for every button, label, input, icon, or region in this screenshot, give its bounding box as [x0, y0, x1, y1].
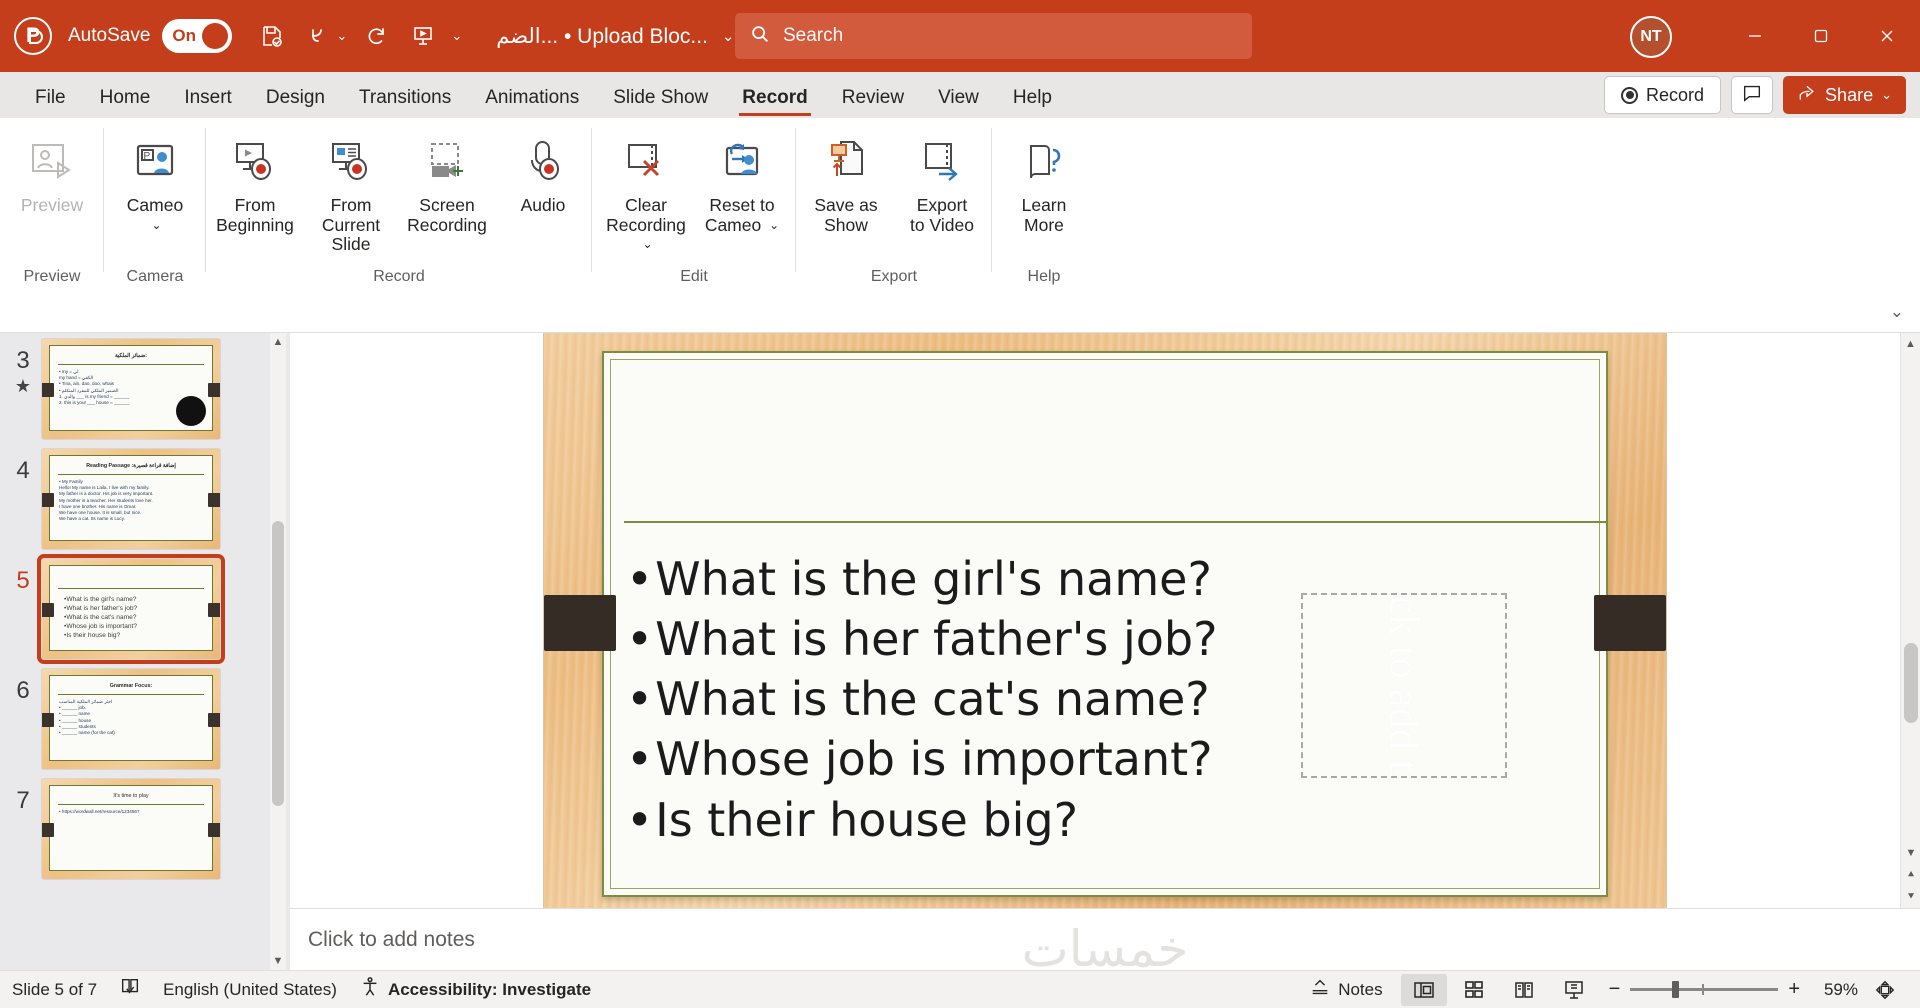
canvas-scrollbar-thumb[interactable]: [1904, 643, 1918, 723]
status-bar: Slide 5 of 7 English (United States) Acc…: [0, 970, 1920, 1008]
cameo-label: Cameo: [127, 195, 183, 215]
slide-canvas-wrapper: What is the girl's name? What is her fat…: [290, 333, 1920, 970]
thumb-title-7: It's time to play: [50, 786, 212, 799]
zoom-track[interactable]: [1630, 988, 1778, 991]
clear-recording-button[interactable]: Clear Recording ⌄: [598, 126, 694, 255]
slide-show-view-icon[interactable]: [1551, 974, 1597, 1006]
thumb-lines-6: اختر ضمائر الملكية المناسب • ______ job.…: [50, 699, 212, 736]
thumbnail-slide-5[interactable]: 5 •What is the girl's name? •What is her…: [0, 559, 290, 659]
audio-label: Audio: [521, 195, 566, 215]
ribbon-tabs: File Home Insert Design Transitions Anim…: [0, 72, 1920, 118]
save-as-show-label-2: Show: [824, 215, 868, 235]
document-title: الضم... • Upload Bloc...: [496, 24, 708, 49]
cameo-caret-icon[interactable]: ⌄: [151, 218, 161, 232]
reset-to-cameo-icon: [715, 132, 769, 194]
tab-review[interactable]: Review: [825, 78, 921, 118]
slide-title-rule: [624, 521, 1606, 523]
record-button[interactable]: Record: [1604, 76, 1721, 114]
learn-more-label-1: Learn: [1022, 195, 1067, 215]
thumbnail-number-3: 3 ★: [4, 339, 42, 395]
tab-insert[interactable]: Insert: [167, 78, 249, 118]
save-as-show-button[interactable]: Save as Show: [798, 126, 894, 235]
cameo-icon: P: [129, 132, 181, 194]
undo-dropdown-caret-icon[interactable]: ⌄: [336, 28, 347, 44]
thumbnail-preview-7: It's time to play • https://wordwall.net…: [42, 779, 220, 879]
from-current-slide-label-1: From: [331, 195, 372, 215]
save-as-show-label-1: Save as: [814, 195, 877, 215]
audio-icon: [516, 132, 570, 194]
reading-view-icon[interactable]: [1501, 974, 1547, 1006]
avatar[interactable]: NT: [1630, 16, 1672, 58]
tab-home[interactable]: Home: [83, 78, 168, 118]
share-icon: [1797, 83, 1817, 108]
slide-bullet-4: Whose job is important?: [626, 729, 1218, 789]
close-button[interactable]: [1854, 0, 1920, 72]
title-bar: P AutoSave On ⌄ ⌄ الضم... • Upload Bloc.…: [0, 0, 1920, 72]
record-button-label: Record: [1646, 85, 1704, 106]
tab-help[interactable]: Help: [996, 78, 1069, 118]
thumbnail-number-6: 6: [4, 669, 42, 705]
tab-animations[interactable]: Animations: [468, 78, 596, 118]
thumbnail-slide-6[interactable]: 6 Grammar Focus: اختر ضمائر الملكية المن…: [0, 669, 290, 769]
thumb-bullets-5: •What is the girl's name? •What is her f…: [50, 593, 212, 640]
redo-icon[interactable]: [355, 14, 399, 58]
title-placeholder[interactable]: Click to add title: [1301, 593, 1507, 778]
comments-button[interactable]: [1731, 76, 1773, 114]
powerpoint-logo-icon: P: [14, 17, 52, 55]
tab-transitions[interactable]: Transitions: [342, 78, 468, 118]
export-to-video-button[interactable]: Export to Video: [894, 126, 990, 235]
slide-clip-left: [544, 595, 616, 651]
group-name-preview: Preview: [24, 268, 81, 286]
ribbon: Preview Preview P Cameo ⌄: [0, 118, 1920, 333]
learn-more-button[interactable]: Learn More: [996, 126, 1092, 235]
status-bar-right: Notes −: [1309, 974, 1908, 1006]
canvas-scroll-bottom-group: ▼ ⯅ ⯆: [1901, 842, 1920, 908]
thumbnail-scroll-down-icon[interactable]: ▼: [270, 952, 286, 970]
export-to-video-icon: [915, 132, 969, 194]
notes-toggle-button[interactable]: Notes: [1309, 976, 1382, 1003]
clear-recording-icon: [619, 132, 673, 194]
ribbon-group-export: Save as Show Export to Video Expo: [796, 118, 992, 298]
preview-icon: [26, 132, 78, 194]
from-beginning-icon: [228, 132, 282, 194]
spellcheck-button[interactable]: [119, 976, 141, 1003]
zoom-slider-handle[interactable]: [1672, 981, 1679, 998]
slide-counter[interactable]: Slide 5 of 7: [12, 980, 97, 1000]
ribbon-group-preview: Preview Preview: [0, 118, 104, 298]
preview-button[interactable]: Preview: [4, 126, 100, 216]
tab-slide-show[interactable]: Slide Show: [596, 78, 725, 118]
share-button-label: Share: [1825, 85, 1873, 106]
thumbnail-number-7: 7: [4, 779, 42, 815]
thumb-lines-4: • My Family Hello! My name is Laila. I l…: [50, 479, 212, 522]
spellcheck-icon: [119, 976, 141, 1003]
share-button[interactable]: Share ⌄: [1783, 76, 1906, 114]
autosave-label: AutoSave: [68, 25, 150, 47]
svg-text:P: P: [144, 151, 151, 162]
notes-pane[interactable]: Click to add notes خمسات: [290, 908, 1920, 970]
thumb-title-4: Reading Passage :إضافة قراءة قصيرة: [50, 456, 212, 469]
thumbnail-scroll-up-icon[interactable]: ▲: [270, 333, 286, 351]
language-indicator[interactable]: English (United States): [163, 980, 337, 1000]
search-box[interactable]: Search: [735, 13, 1252, 59]
tab-record[interactable]: Record: [725, 78, 824, 118]
from-current-slide-button[interactable]: From Current Slide: [303, 126, 399, 255]
autosave-toggle[interactable]: On: [162, 19, 232, 53]
slide-editing-area[interactable]: What is the girl's name? What is her fat…: [290, 333, 1920, 908]
thumbnail-preview-3: ضمائر الملكية: • my = لي my hand = الكفي…: [42, 339, 220, 439]
canvas-scroll-down-icon[interactable]: ▼: [1901, 842, 1920, 864]
group-name-camera: Camera: [127, 268, 184, 286]
clear-recording-label-2: Recording: [606, 215, 686, 235]
thumbnail-scrollbar-thumb[interactable]: [272, 521, 284, 806]
thumbnail-slide-7[interactable]: 7 It's time to play • https://wordwall.n…: [0, 779, 290, 879]
zoom-in-button[interactable]: +: [1788, 978, 1800, 1001]
document-title-caret-icon[interactable]: ⌄: [722, 27, 735, 45]
window-controls: [1722, 0, 1920, 72]
slide-thumbnail-pane[interactable]: 3 ★ ضمائر الملكية: • my = لي my hand = ا…: [0, 333, 290, 970]
thumb-title-6: Grammar Focus:: [50, 676, 212, 689]
previous-slide-icon[interactable]: ⯅: [1901, 864, 1920, 886]
restore-button[interactable]: [1788, 0, 1854, 72]
slide-bullet-5: Is their house big?: [626, 790, 1218, 850]
tab-view[interactable]: View: [921, 78, 996, 118]
clear-recording-label-1: Clear: [625, 195, 667, 215]
from-current-slide-icon: [324, 132, 378, 194]
thumbnail-slide-3[interactable]: 3 ★ ضمائر الملكية: • my = لي my hand = ا…: [0, 339, 290, 439]
ribbon-group-help: Learn More Help: [992, 118, 1096, 298]
undo-icon[interactable]: [296, 14, 340, 58]
screen-recording-button[interactable]: Screen Recording: [399, 126, 495, 235]
main-area: 3 ★ ضمائر الملكية: • my = لي my hand = ا…: [0, 333, 1920, 970]
reset-to-cameo-button[interactable]: Reset to Cameo ⌄: [694, 126, 790, 235]
canvas-scrollbar[interactable]: ▲ ▼ ⯅ ⯆: [1900, 333, 1920, 908]
group-name-record: Record: [373, 268, 425, 286]
thumbnail-scrollbar[interactable]: ▲ ▼: [270, 333, 286, 970]
learn-more-icon: [1017, 132, 1071, 194]
thumb-lines-7: • https://wordwall.net/resource/1234567: [50, 809, 212, 815]
normal-view-icon[interactable]: [1401, 974, 1447, 1006]
thumbnail-slide-4[interactable]: 4 Reading Passage :إضافة قراءة قصيرة • M…: [0, 449, 290, 549]
tab-file[interactable]: File: [18, 78, 83, 118]
share-caret-icon[interactable]: ⌄: [1881, 87, 1892, 103]
ribbon-group-record: From Beginning From: [206, 118, 592, 298]
slide-body-text[interactable]: What is the girl's name? What is her fat…: [626, 549, 1218, 850]
thumbnail-preview-4: Reading Passage :إضافة قراءة قصيرة • My …: [42, 449, 220, 549]
cameo-button[interactable]: P Cameo ⌄: [107, 126, 203, 235]
zoom-out-button[interactable]: −: [1609, 978, 1621, 1001]
save-as-show-icon: [819, 132, 873, 194]
slide-surface[interactable]: What is the girl's name? What is her fat…: [544, 333, 1666, 908]
thumb-title-3: ضمائر الملكية:: [50, 346, 212, 359]
reset-to-cameo-caret-icon[interactable]: ⌄: [769, 218, 779, 232]
next-slide-icon[interactable]: ⯆: [1901, 886, 1920, 908]
canvas-scroll-up-icon[interactable]: ▲: [1901, 333, 1920, 355]
search-icon: [749, 23, 771, 50]
customize-quick-access-toolbar-icon[interactable]: ⌄: [451, 28, 462, 44]
reset-to-cameo-label-2: Cameo: [705, 215, 761, 235]
toggle-knob: [202, 23, 228, 49]
slide-bullet-3: What is the cat's name?: [626, 669, 1218, 729]
ribbon-group-camera: P Cameo ⌄ Camera: [104, 118, 206, 298]
from-current-slide-label-2: Current Slide: [322, 215, 380, 255]
slide-bullet-2: What is her father's job?: [626, 609, 1218, 669]
collapse-ribbon-button[interactable]: ⌄: [1890, 302, 1904, 322]
search-placeholder: Search: [783, 25, 843, 47]
export-to-video-label-1: Export: [917, 195, 968, 215]
slide-sorter-view-icon[interactable]: [1451, 974, 1497, 1006]
group-name-help: Help: [1028, 268, 1061, 286]
screen-recording-label-1: Screen: [419, 195, 474, 215]
record-dot-icon: [1621, 87, 1638, 104]
zoom-slider[interactable]: − +: [1609, 978, 1800, 1001]
slide-clip-right: [1594, 595, 1666, 651]
export-to-video-label-2: to Video: [910, 215, 974, 235]
clear-recording-caret-icon[interactable]: ⌄: [642, 237, 652, 251]
audio-button[interactable]: Audio: [495, 126, 591, 216]
screen-recording-icon: [420, 132, 474, 194]
tab-design[interactable]: Design: [249, 78, 342, 118]
group-name-edit: Edit: [680, 268, 708, 286]
notes-icon: [1309, 976, 1331, 1003]
thumbnail-preview-5: •What is the girl's name? •What is her f…: [42, 559, 220, 659]
zoom-midpoint-mark: [1702, 984, 1704, 995]
reset-to-cameo-label-1: Reset to: [709, 195, 774, 215]
comment-icon: [1741, 82, 1763, 109]
preview-label: Preview: [21, 195, 83, 215]
zoom-level-label[interactable]: 59%: [1812, 980, 1858, 1000]
notes-placeholder: Click to add notes: [308, 928, 475, 952]
animation-star-icon: ★: [4, 377, 42, 395]
thumbnail-preview-6: Grammar Focus: اختر ضمائر الملكية المناس…: [42, 669, 220, 769]
from-beginning-button[interactable]: From Beginning: [207, 126, 303, 235]
from-beginning-label-2: Beginning: [216, 215, 294, 235]
accessibility-status[interactable]: Accessibility: Investigate: [359, 976, 591, 1003]
screen-recording-label-2: Recording: [407, 215, 487, 235]
ribbon-group-edit: Clear Recording ⌄: [592, 118, 796, 298]
from-beginning-label-1: From: [235, 195, 276, 215]
save-icon[interactable]: [250, 14, 294, 58]
title-placeholder-text: Click to add title: [1380, 593, 1428, 778]
autosave-state: On: [172, 26, 196, 46]
thumbnail-number-5: 5: [4, 559, 42, 595]
minimize-button[interactable]: [1722, 0, 1788, 72]
thumbnail-number-4: 4: [4, 449, 42, 485]
start-from-beginning-icon[interactable]: [401, 14, 445, 58]
thumb-cameo-circle: [176, 396, 206, 426]
group-name-export: Export: [871, 268, 917, 286]
slide-bullet-1: What is the girl's name?: [626, 549, 1218, 609]
accessibility-icon: [359, 976, 381, 1003]
fit-to-window-icon[interactable]: [1862, 974, 1908, 1006]
learn-more-label-2: More: [1024, 215, 1064, 235]
tab-right-actions: Record Share ⌄: [1604, 76, 1906, 114]
